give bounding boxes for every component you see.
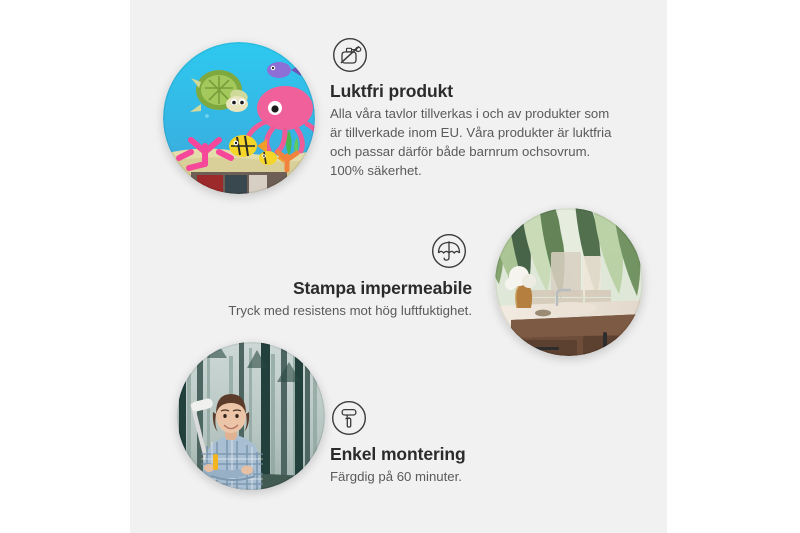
paint-roller-icon xyxy=(330,399,368,437)
feature-easy-mounting: Enkel montering Färgdig på 60 minuter. xyxy=(330,399,590,487)
umbrella-icon xyxy=(430,232,468,270)
feature-waterproof: Stampa impermeabile Tryck med resistens … xyxy=(180,232,472,321)
no-perfume-icon xyxy=(331,36,369,74)
feature-title: Stampa impermeabile xyxy=(180,278,472,298)
feature-title: Enkel montering xyxy=(330,444,590,464)
feature-body: Tryck med resistens mot hög luftfuktighe… xyxy=(180,302,472,321)
promo-graphic: Luktfri produkt Alla våra tavlor tillver… xyxy=(0,0,800,533)
feature-title: Luktfri produkt xyxy=(330,81,622,101)
feature-body: Alla våra tavlor tillverkas i och av pro… xyxy=(330,105,622,181)
photo-forest-mural-painter xyxy=(177,342,325,490)
photo-underwater-mural xyxy=(163,42,315,194)
feature-body: Färgdig på 60 minuter. xyxy=(330,468,590,487)
photo-bathroom-leaf-wallpaper xyxy=(495,208,643,356)
feature-odorless: Luktfri produkt Alla våra tavlor tillver… xyxy=(330,36,622,181)
